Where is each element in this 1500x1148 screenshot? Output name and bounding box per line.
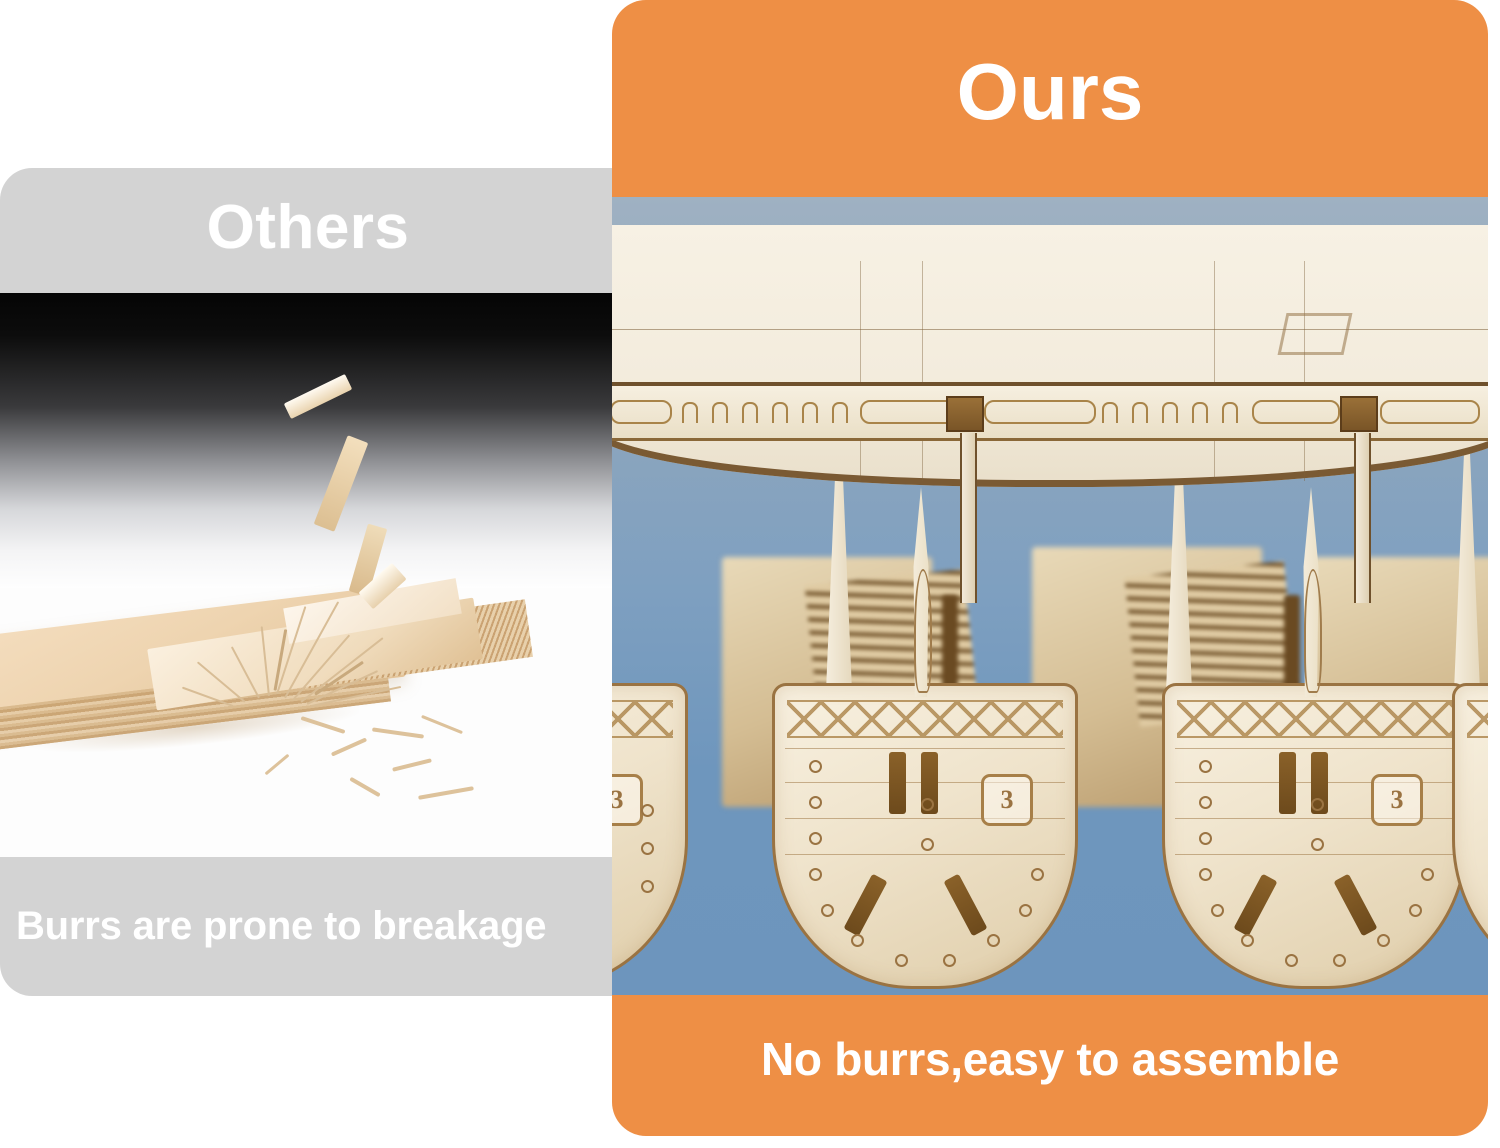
others-photo: [0, 293, 616, 857]
comparison-card-ours: Ours: [612, 0, 1488, 1136]
deck-seam-vertical-3: [1214, 261, 1215, 481]
ornament-rivet-r6: [1241, 934, 1254, 947]
ornament-rivet-r4: [1199, 868, 1212, 881]
ornament-slot-r1: [1279, 752, 1296, 814]
ornament-rivet-r2: [1199, 796, 1212, 809]
ornament-slot-l4: [943, 874, 987, 937]
ornament-rivet-e3: [641, 880, 654, 893]
rail-slot-4: [1252, 400, 1340, 424]
ornament-rivet-r13: [1311, 838, 1324, 851]
carved-ornament-panel-edge-right: [1452, 683, 1488, 989]
ornament-rivet-r10: [1409, 904, 1422, 917]
rail-u-6: [832, 402, 848, 423]
rail-u-10: [1192, 402, 1208, 423]
ornament-rivet-l9: [987, 934, 1000, 947]
rail-u-5: [802, 402, 818, 423]
ornament-rivet-l12: [921, 798, 934, 811]
ornament-lattice-band-edge-left: [612, 700, 673, 738]
rail-u-2: [712, 402, 728, 423]
rail-u-1: [682, 402, 698, 423]
rail-u-3: [742, 402, 758, 423]
rail-slot-3: [984, 400, 1096, 424]
ornament-rivet-r12: [1311, 798, 1324, 811]
rail-u-4: [772, 402, 788, 423]
carved-ornament-panel-edge-left: 3: [612, 683, 688, 989]
deck-seam-horizontal-1: [612, 329, 1488, 330]
broken-wood-photo-art: [0, 293, 616, 857]
ornament-rivet-l6: [851, 934, 864, 947]
rail-slot-1: [612, 400, 672, 424]
ornament-rivet-r11: [1421, 868, 1434, 881]
ornament-rivet-r3: [1199, 832, 1212, 845]
rail-peg-1: [946, 396, 984, 432]
support-post-left: [960, 433, 977, 603]
ornament-engraved-badge-right: 3: [1371, 774, 1423, 826]
photo-backdrop-gradient: [0, 293, 616, 593]
ornament-engraved-badge-left: 3: [981, 774, 1033, 826]
ornament-rivet-r7: [1285, 954, 1298, 967]
carved-ornament-panel-left: 3: [772, 683, 1078, 989]
ornament-rivet-e1: [641, 804, 654, 817]
ornament-rivet-l11: [1031, 868, 1044, 881]
ornament-rivet-r8: [1333, 954, 1346, 967]
ornament-rivet-l4: [809, 868, 822, 881]
others-title: Others: [0, 168, 616, 293]
ornament-engraved-badge-edge-left: 3: [612, 774, 643, 826]
wooden-model-photo-art: 3: [612, 197, 1488, 995]
ornament-line-r4: [1175, 854, 1455, 855]
ours-photo: 3: [612, 197, 1488, 995]
ornament-line-r1: [1175, 748, 1455, 749]
ornament-rivet-l13: [921, 838, 934, 851]
ornament-rivet-l8: [943, 954, 956, 967]
ours-caption: No burrs,easy to assemble: [612, 995, 1488, 1136]
deck-seam-vertical-4: [1304, 261, 1305, 481]
ornament-slot-r4: [1333, 874, 1377, 937]
deck-hatch-outline: [1278, 313, 1353, 355]
ornament-rivet-r5: [1211, 904, 1224, 917]
carved-spire-inner-right: [1304, 569, 1322, 693]
rail-u-8: [1132, 402, 1148, 423]
support-post-right: [1354, 433, 1371, 603]
deck-seam-vertical-2: [922, 261, 923, 481]
carved-spire-inner-left: [914, 569, 932, 693]
ornament-slot-l1: [889, 752, 906, 814]
rail-peg-2: [1340, 396, 1378, 432]
ornament-rivet-l2: [809, 796, 822, 809]
burr-splinter-burst: [215, 593, 380, 718]
ornament-rivet-l7: [895, 954, 908, 967]
ornament-rivet-r1: [1199, 760, 1212, 773]
ours-title: Ours: [612, 0, 1488, 197]
deck-seam-vertical-1: [860, 261, 861, 481]
ornament-slot-l3: [843, 874, 887, 937]
ornament-rivet-l10: [1019, 904, 1032, 917]
rail-slot-2: [860, 400, 958, 424]
ornament-slot-r3: [1233, 874, 1277, 937]
others-caption: Burrs are prone to breakage: [0, 857, 616, 996]
ornament-rivet-l5: [821, 904, 834, 917]
ornament-line-l4: [785, 854, 1065, 855]
rail-u-9: [1162, 402, 1178, 423]
ornament-lattice-band-left: [787, 700, 1063, 738]
rail-slot-5: [1380, 400, 1480, 424]
ornament-line-l1: [785, 748, 1065, 749]
rail-u-7: [1102, 402, 1118, 423]
rail-u-11: [1222, 402, 1238, 423]
carved-ornament-panel-right: 3: [1162, 683, 1468, 989]
ornament-lattice-band-edge-right: [1467, 700, 1488, 738]
ornament-rivet-l3: [809, 832, 822, 845]
ornament-lattice-band-right: [1177, 700, 1453, 738]
ornament-rivet-r9: [1377, 934, 1390, 947]
ornament-rivet-e2: [641, 842, 654, 855]
comparison-card-others: Others: [0, 168, 616, 996]
ornament-rivet-l1: [809, 760, 822, 773]
